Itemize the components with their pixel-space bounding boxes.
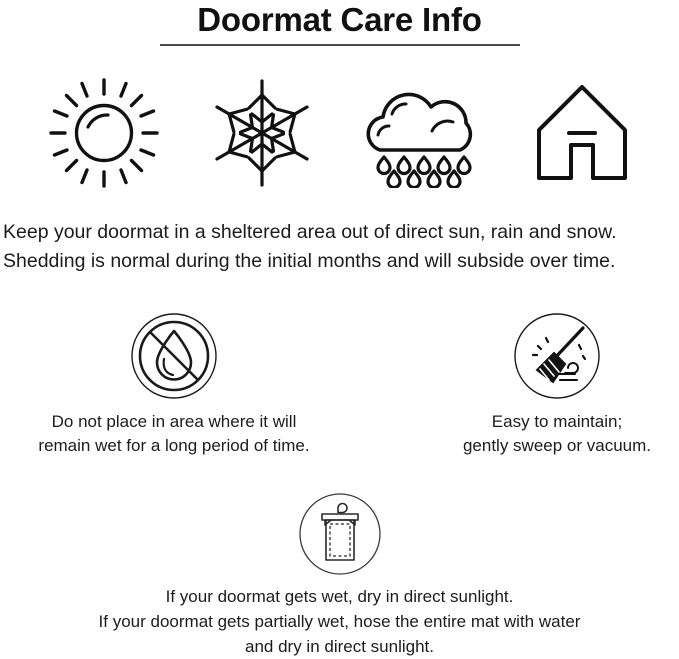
hang-dry-icon: [298, 492, 382, 576]
rain-cloud-icon: [362, 78, 482, 188]
hang-dry-caption-line-1: If your doormat gets wet, dry in direct …: [0, 584, 679, 609]
intro-paragraph: Keep your doormat in a sheltered area ou…: [0, 218, 679, 276]
hang-dry-caption-line-3: and dry in direct sunlight.: [0, 634, 679, 659]
no-water-badge: [19, 310, 329, 402]
no-water-caption: Do not place in area where it will remai…: [19, 410, 329, 458]
no-water-caption-line-1: Do not place in area where it will: [19, 410, 329, 434]
intro-line-2: Shedding is normal during the initial mo…: [3, 247, 679, 276]
sweep-caption-line-2: gently sweep or vacuum.: [402, 434, 679, 458]
page-title: Doormat Care Info: [0, 2, 679, 38]
house-icon: [527, 78, 637, 188]
title-underline-rule: [160, 44, 520, 46]
hang-dry-caption: If your doormat gets wet, dry in direct …: [0, 584, 679, 659]
weather-cell-rain: [342, 70, 502, 195]
no-water-caption-line-2: remain wet for a long period of time.: [19, 434, 329, 458]
weather-cell-house: [502, 70, 662, 195]
page-title-block: Doormat Care Info: [0, 2, 679, 46]
no-water-icon: [130, 312, 218, 400]
weather-cell-sun: [24, 70, 184, 195]
sweep-caption-line-1: Easy to maintain;: [402, 410, 679, 434]
care-column-sweep: Easy to maintain; gently sweep or vacuum…: [402, 310, 679, 458]
care-columns: Do not place in area where it will remai…: [0, 310, 679, 470]
care-column-no-water: Do not place in area where it will remai…: [19, 310, 329, 458]
hang-dry-badge: [0, 490, 679, 578]
weather-cell-snow: [182, 70, 342, 195]
intro-line-1: Keep your doormat in a sheltered area ou…: [3, 218, 679, 247]
hang-dry-section: If your doormat gets wet, dry in direct …: [0, 490, 679, 659]
broom-sweep-icon: [513, 312, 601, 400]
snowflake-icon: [212, 78, 312, 188]
hang-dry-caption-line-2: If your doormat gets partially wet, hose…: [0, 609, 679, 634]
weather-icon-row: [0, 70, 679, 195]
broom-sweep-badge: [402, 310, 679, 402]
sweep-caption: Easy to maintain; gently sweep or vacuum…: [402, 410, 679, 458]
sun-icon: [49, 77, 159, 189]
